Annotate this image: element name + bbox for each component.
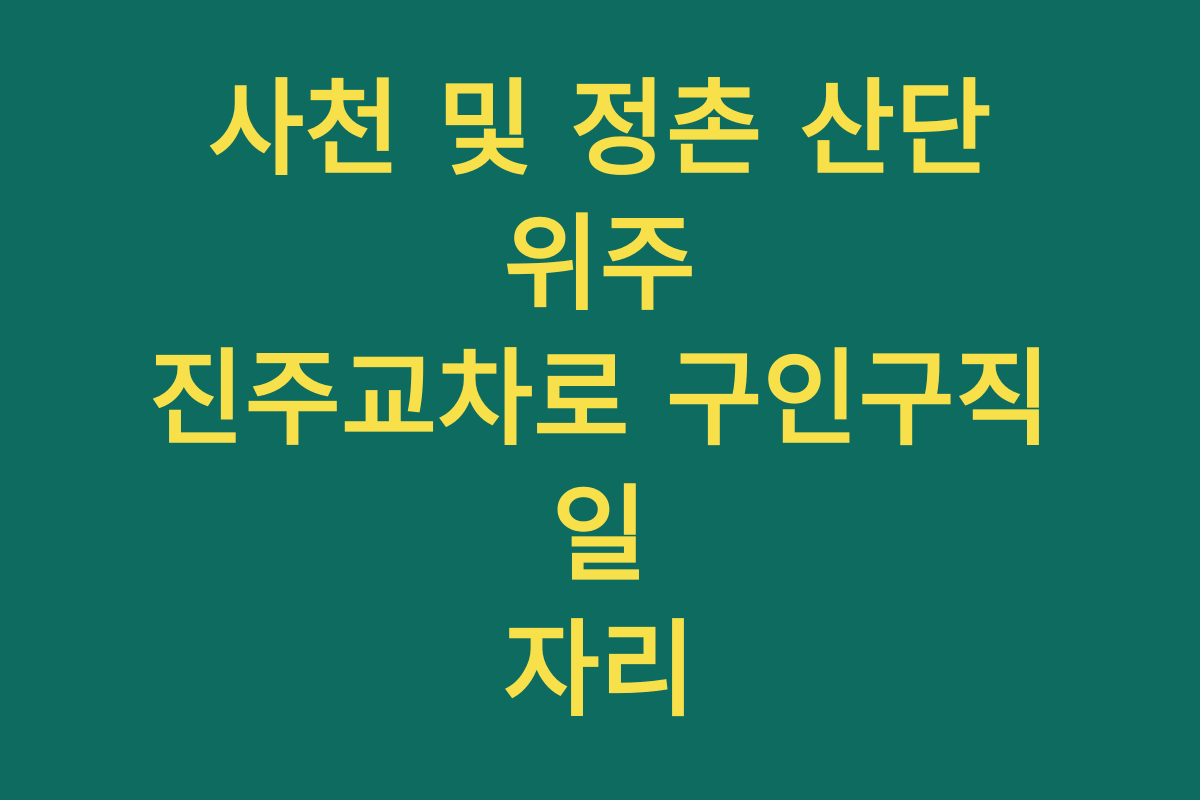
- headline-line-2: 진주교차로 구인구직 일: [100, 332, 1100, 602]
- banner-headline: 사천 및 정촌 산단 위주 진주교차로 구인구직 일 자리: [100, 62, 1100, 738]
- headline-line-1: 사천 및 정촌 산단 위주: [100, 62, 1100, 332]
- headline-line-3: 자리: [100, 603, 1100, 738]
- banner-canvas: 사천 및 정촌 산단 위주 진주교차로 구인구직 일 자리: [0, 0, 1200, 800]
